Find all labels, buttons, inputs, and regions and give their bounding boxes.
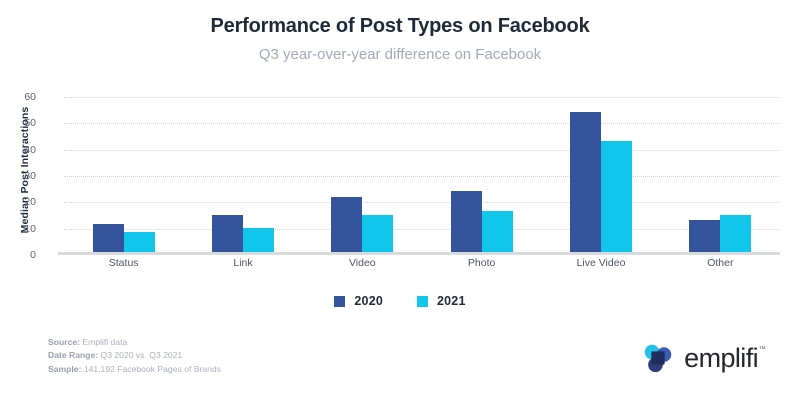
chart-subtitle: Q3 year-over-year difference on Facebook bbox=[0, 46, 800, 64]
emplifi-wordmark: emplifi ™ bbox=[684, 345, 758, 372]
bar-2021-status[interactable] bbox=[124, 232, 155, 252]
footnote-value: Emplifi data bbox=[80, 337, 127, 347]
footnote-key: Sample: bbox=[48, 364, 81, 374]
bar-group: Video bbox=[331, 94, 393, 252]
chart-title: Performance of Post Types on Facebook bbox=[0, 14, 800, 38]
gridline bbox=[64, 202, 780, 203]
gridline bbox=[64, 176, 780, 177]
bar-2021-video[interactable] bbox=[362, 215, 393, 252]
footnote-key: Source: bbox=[48, 337, 80, 347]
chart-plot-frame: Median Post Interactions 0102030405060St… bbox=[0, 88, 800, 268]
legend-item-2020[interactable]: 2020 bbox=[334, 294, 383, 308]
gridline bbox=[64, 97, 780, 98]
bar-2020-live-video[interactable] bbox=[570, 112, 601, 252]
y-tick-label: 10 bbox=[2, 223, 36, 235]
bar-2021-other[interactable] bbox=[720, 215, 751, 252]
bar-2020-status[interactable] bbox=[93, 224, 124, 252]
x-axis-baseline bbox=[58, 252, 780, 255]
x-tick-label-status: Status bbox=[64, 257, 184, 269]
bar-2020-photo[interactable] bbox=[451, 191, 482, 252]
footnote-row: Source: Emplifi data bbox=[48, 336, 221, 349]
footnote-row: Date Range: Q3 2020 vs. Q3 2021 bbox=[48, 349, 221, 362]
plot-area: 0102030405060StatusLinkVideoPhotoLive Vi… bbox=[64, 97, 780, 255]
footnote-row: Sample: 141,192 Facebook Pages of Brands bbox=[48, 363, 221, 376]
bar-2020-video[interactable] bbox=[331, 197, 362, 252]
bar-2021-link[interactable] bbox=[243, 228, 274, 252]
x-tick-label-other: Other bbox=[660, 257, 780, 269]
bar-2021-live-video[interactable] bbox=[601, 141, 632, 252]
y-tick-label: 0 bbox=[2, 249, 36, 261]
legend-item-2021[interactable]: 2021 bbox=[417, 294, 466, 308]
gridline bbox=[64, 123, 780, 124]
legend-swatch-2020 bbox=[334, 296, 345, 307]
emplifi-logo: emplifi ™ bbox=[641, 341, 758, 375]
footnote-value: Q3 2020 vs. Q3 2021 bbox=[98, 350, 182, 360]
bar-2020-other[interactable] bbox=[689, 220, 720, 252]
bar-group: Photo bbox=[451, 94, 513, 252]
footnote-value: 141,192 Facebook Pages of Brands bbox=[81, 364, 221, 374]
y-tick-label: 50 bbox=[2, 117, 36, 129]
gridline bbox=[64, 229, 780, 230]
y-tick-label: 30 bbox=[2, 170, 36, 182]
x-tick-label-live-video: Live Video bbox=[541, 257, 661, 269]
x-tick-label-photo: Photo bbox=[422, 257, 542, 269]
trademark-symbol: ™ bbox=[759, 346, 765, 353]
y-tick-label: 40 bbox=[2, 144, 36, 156]
footnotes-block: Source: Emplifi dataDate Range: Q3 2020 … bbox=[48, 336, 221, 376]
legend-label-2021: 2021 bbox=[437, 294, 466, 308]
y-tick-label: 20 bbox=[2, 196, 36, 208]
footnote-key: Date Range: bbox=[48, 350, 98, 360]
gridline bbox=[64, 150, 780, 151]
bar-2020-link[interactable] bbox=[212, 215, 243, 252]
chart-legend: 20202021 bbox=[0, 294, 800, 308]
bar-group: Status bbox=[93, 94, 155, 252]
legend-swatch-2021 bbox=[417, 296, 428, 307]
bar-group: Live Video bbox=[570, 94, 632, 252]
legend-label-2020: 2020 bbox=[354, 294, 383, 308]
bar-2021-photo[interactable] bbox=[482, 211, 513, 252]
emplifi-wordmark-text: emplifi bbox=[684, 343, 758, 373]
x-tick-label-video: Video bbox=[302, 257, 422, 269]
x-tick-label-link: Link bbox=[183, 257, 303, 269]
chart-header: Performance of Post Types on Facebook Q3… bbox=[0, 0, 800, 64]
bar-group: Link bbox=[212, 94, 274, 252]
emplifi-logo-mark bbox=[641, 341, 675, 375]
y-tick-label: 60 bbox=[2, 91, 36, 103]
bar-group: Other bbox=[689, 94, 751, 252]
